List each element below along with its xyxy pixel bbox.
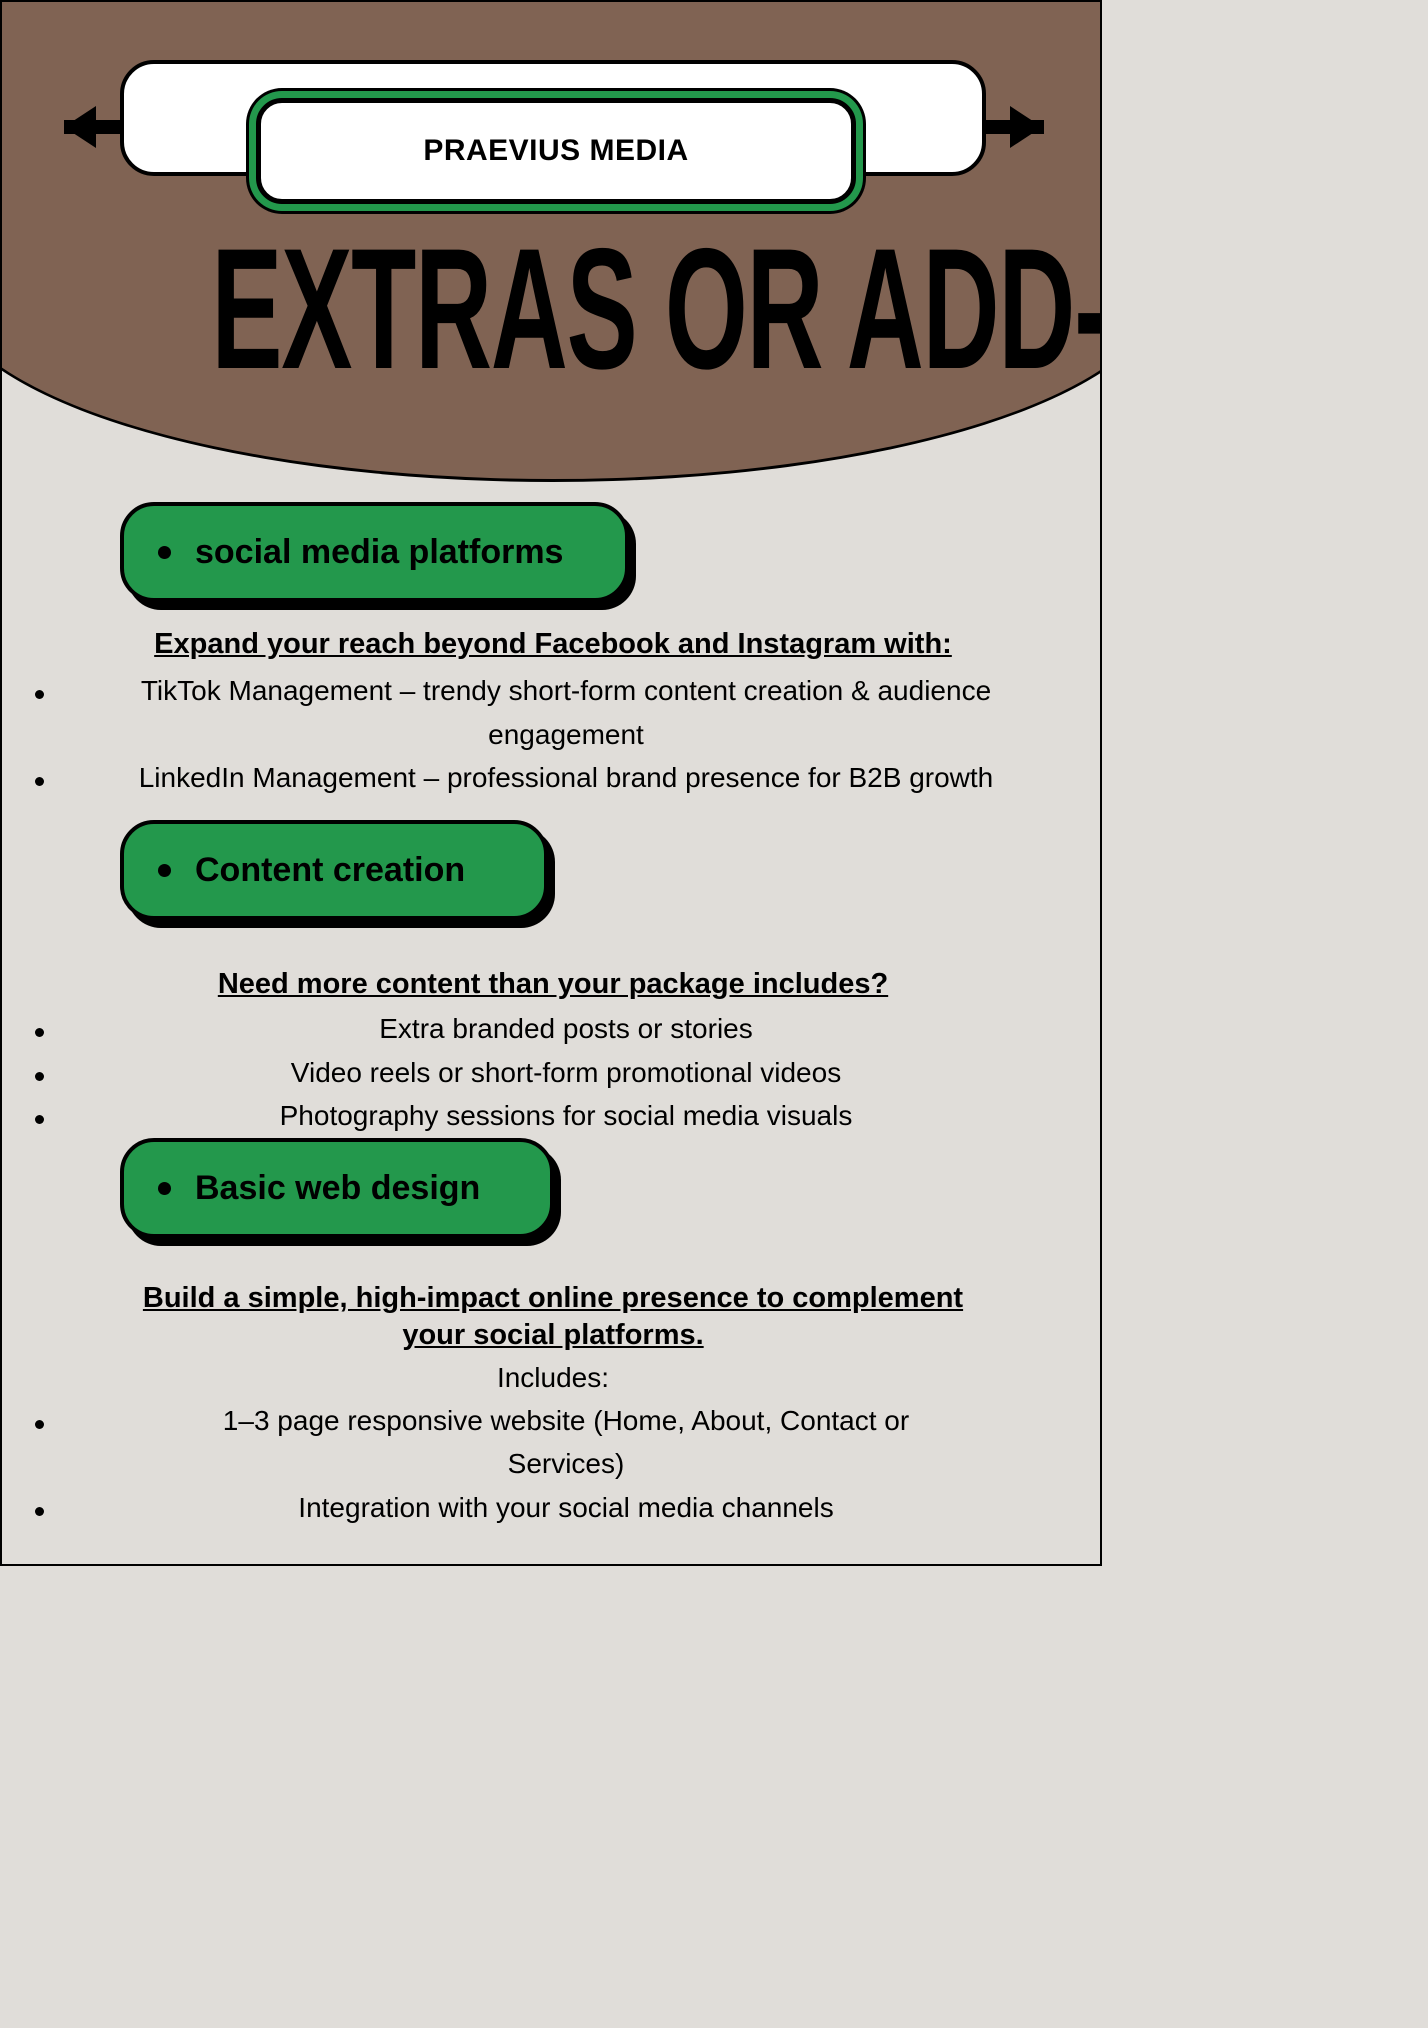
list-item: TikTok Management – trendy short-form co… [2,669,1102,756]
bullet-dot-icon [158,1182,171,1195]
arrow-left-icon [64,106,96,148]
list-item: Integration with your social media chann… [2,1486,1102,1530]
list-item: Video reels or short-form promotional vi… [2,1051,1102,1095]
list-item: LinkedIn Management – professional brand… [2,756,1102,800]
list-item: Photography sessions for social media vi… [2,1094,1102,1138]
bullet-dot-icon [158,546,171,559]
bullet-list: 1–3 page responsive website (Home, About… [2,1399,1102,1530]
title-banner-group: PRAEVIUS MEDIA [2,2,1102,212]
page-title: EXTRAS OR ADD-ON [211,230,894,388]
brand-logo-text: PRAEVIUS MEDIA [423,134,688,168]
poster-page: PRAEVIUS MEDIA EXTRAS OR ADD-ON social m… [0,0,1102,1566]
section-lead: Need more content than your package incl… [2,966,1102,1003]
brand-logo-pill: PRAEVIUS MEDIA [256,98,856,204]
bullet-dot-icon [158,864,171,877]
bullet-list: Extra branded posts or stories Video ree… [2,1007,1102,1138]
section-social-media-platforms: social media platforms Expand your reach… [2,502,1102,800]
pill-content-creation[interactable]: Content creation [120,820,548,920]
section-content-creation: Content creation Need more content than … [2,820,1102,1138]
pill-label: social media platforms [195,533,563,572]
bullet-list: TikTok Management – trendy short-form co… [2,669,1102,800]
list-item: 1–3 page responsive website (Home, About… [2,1399,1102,1486]
arrow-right-icon [1010,106,1042,148]
section-basic-web-design: Basic web design Build a simple, high-im… [2,1138,1102,1530]
section-sub-lead: Includes: [2,1360,1102,1396]
pill-label: Content creation [195,851,465,890]
list-item: Extra branded posts or stories [2,1007,1102,1051]
section-lead: Build a simple, high-impact online prese… [2,1280,1102,1354]
pill-basic-web-design[interactable]: Basic web design [120,1138,554,1238]
section-lead: Expand your reach beyond Facebook and In… [2,626,1102,663]
pill-label: Basic web design [195,1169,480,1208]
pill-social-media-platforms[interactable]: social media platforms [120,502,629,602]
